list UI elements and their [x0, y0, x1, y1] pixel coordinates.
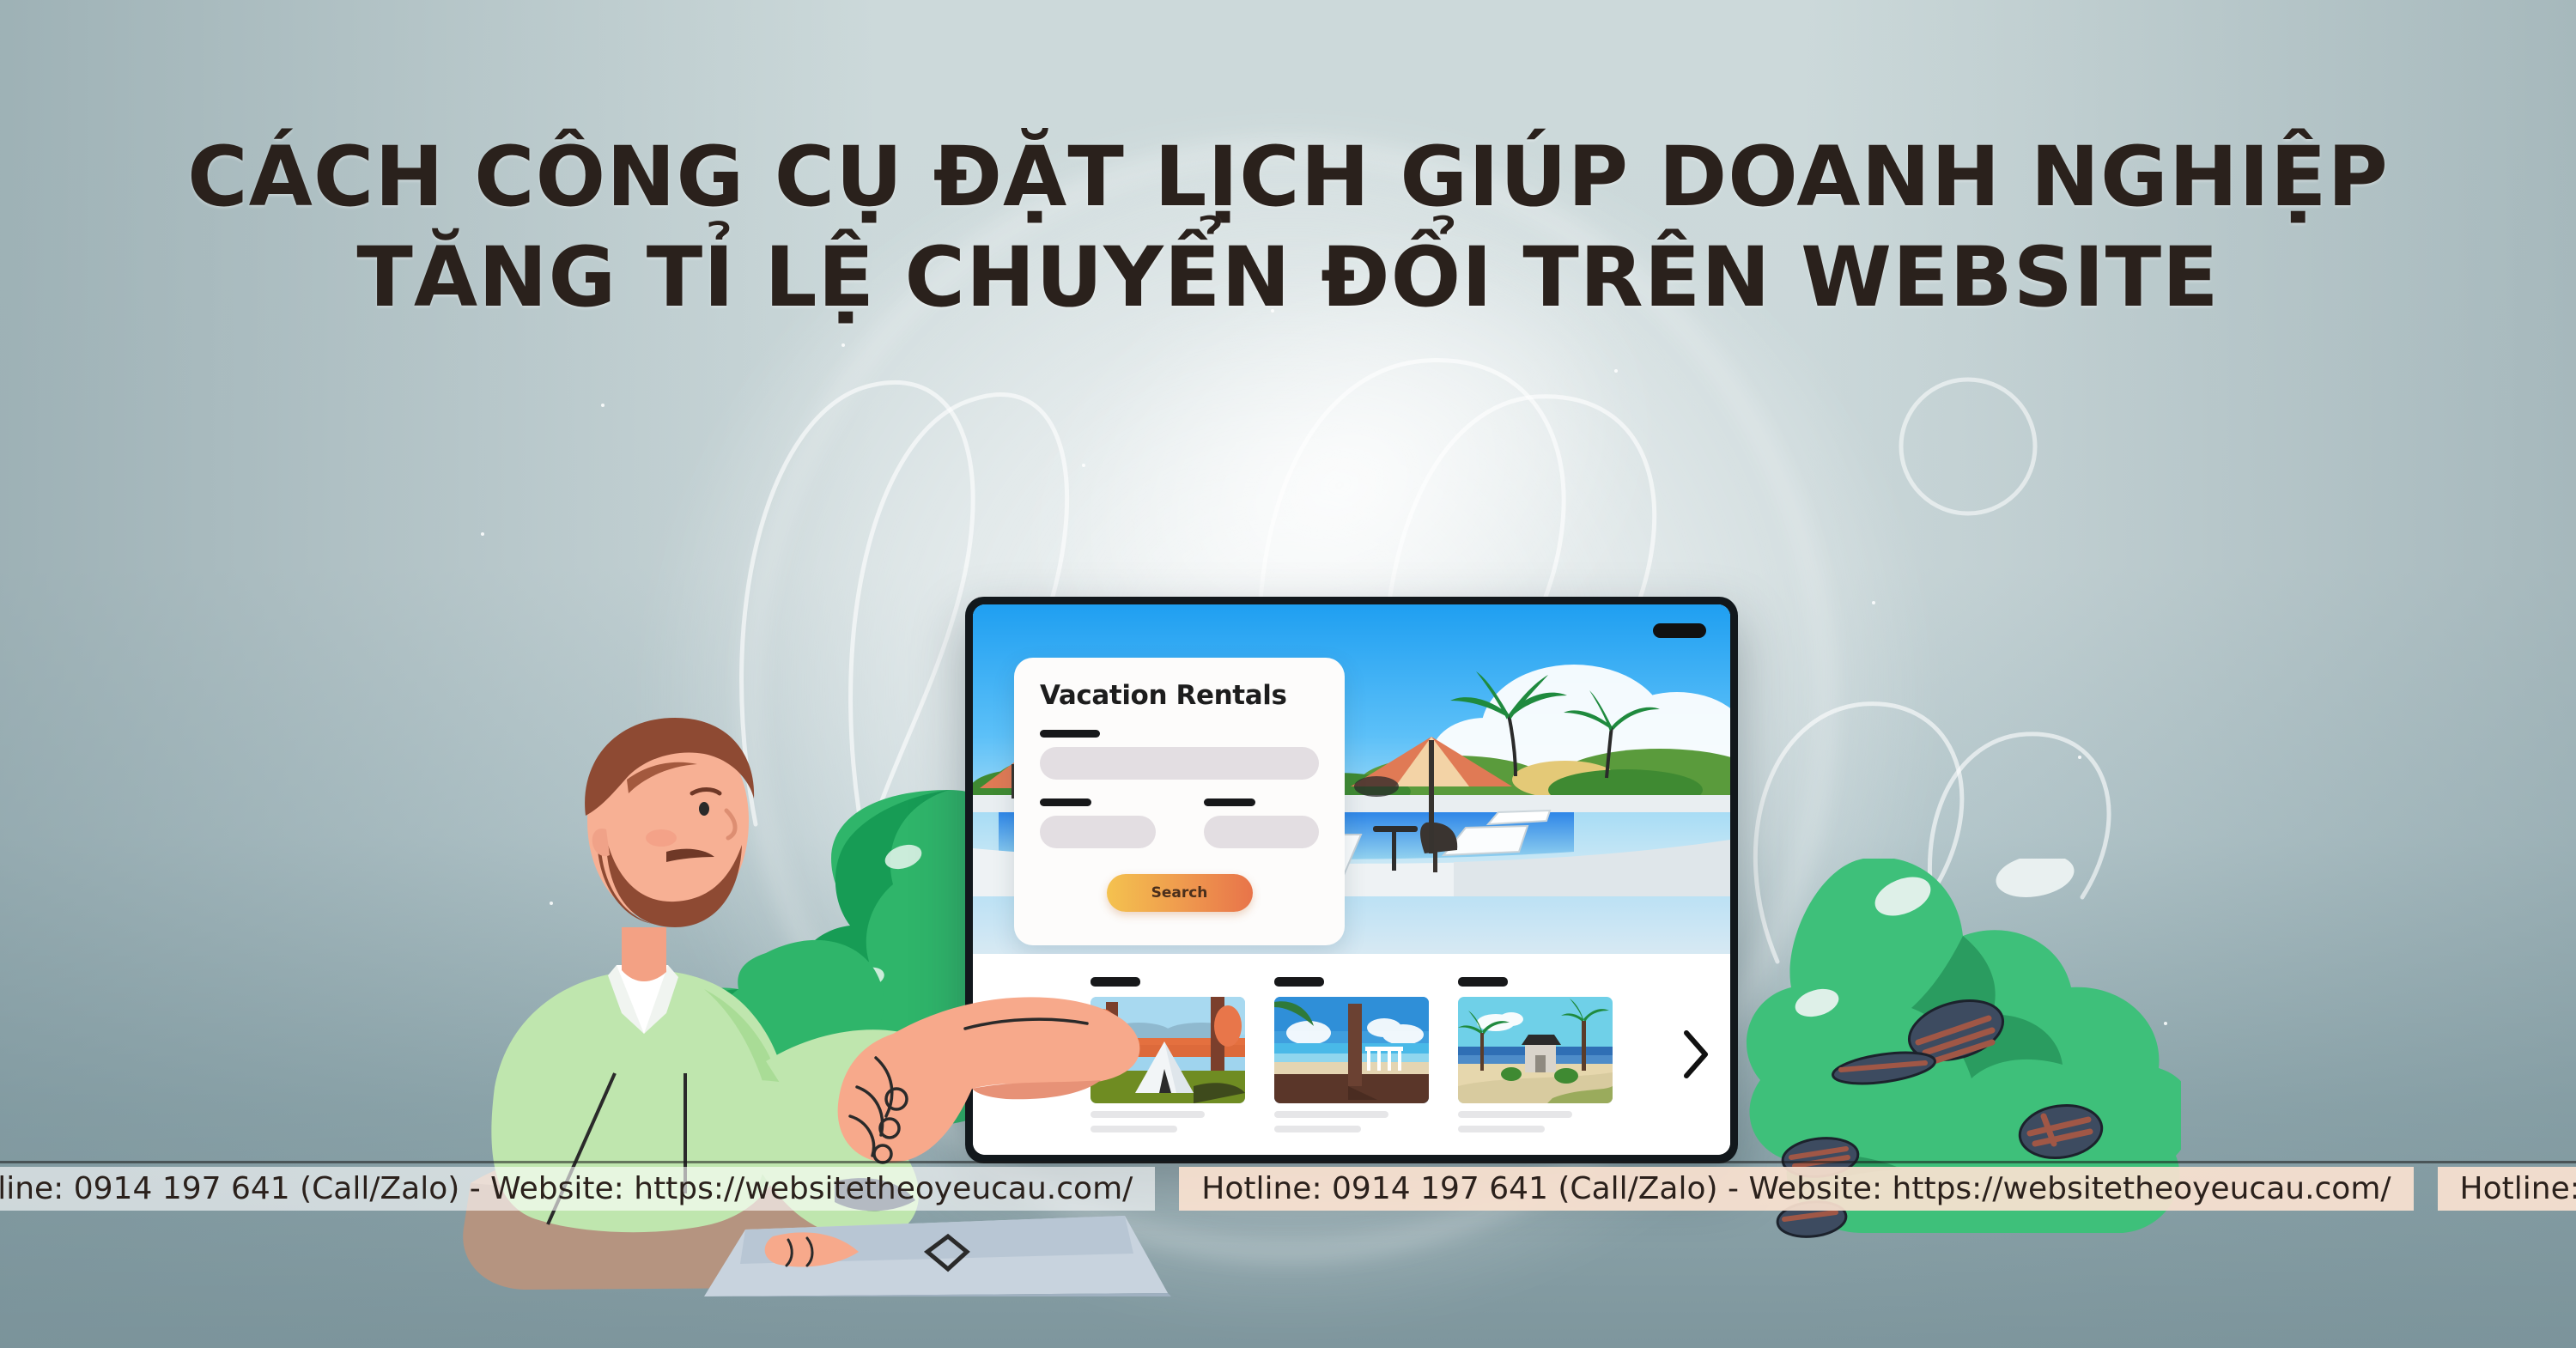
checkout-input[interactable]: [1204, 816, 1320, 848]
front-camera-icon: [1653, 623, 1706, 638]
title-line-2: TĂNG TỈ LỆ CHUYỂN ĐỔI TRÊN WEBSITE: [0, 228, 2576, 328]
chevron-right-icon[interactable]: [1677, 1028, 1711, 1081]
contact-ticker-bar: Hotline: 0914 197 641 (Call/Zalo) - Webs…: [0, 1161, 2576, 1214]
thumb-text-line: [1274, 1111, 1388, 1118]
page-title: CÁCH CÔNG CỤ ĐẶT LỊCH GIÚP DOANH NGHIỆP …: [0, 127, 2576, 328]
thumb-text-line: [1458, 1111, 1572, 1118]
banner-stage: Vacation Rentals Search: [0, 0, 2576, 1348]
ticker-message: Hotline: 0914 197 641 (Call/Zalo) - Webs…: [2438, 1167, 2576, 1211]
thumb-text-line: [1274, 1126, 1361, 1132]
list-item[interactable]: [1458, 977, 1613, 1132]
thumb-title-bar-3: [1458, 977, 1508, 987]
title-line-1: CÁCH CÔNG CỤ ĐẶT LỊCH GIÚP DOANH NGHIỆP: [0, 127, 2576, 228]
thumb-image-pier: [1274, 997, 1429, 1103]
list-item[interactable]: [1274, 977, 1429, 1132]
ticker-message: Hotline: 0914 197 641 (Call/Zalo) - Webs…: [0, 1167, 1155, 1211]
thumb-image-beach-house: [1458, 997, 1613, 1103]
ticker-track: Hotline: 0914 197 641 (Call/Zalo) - Webs…: [0, 1167, 2576, 1211]
thumb-text-line: [1458, 1126, 1545, 1132]
ticker-message: Hotline: 0914 197 641 (Call/Zalo) - Webs…: [1179, 1167, 2413, 1211]
thumb-title-bar-2: [1274, 977, 1324, 987]
